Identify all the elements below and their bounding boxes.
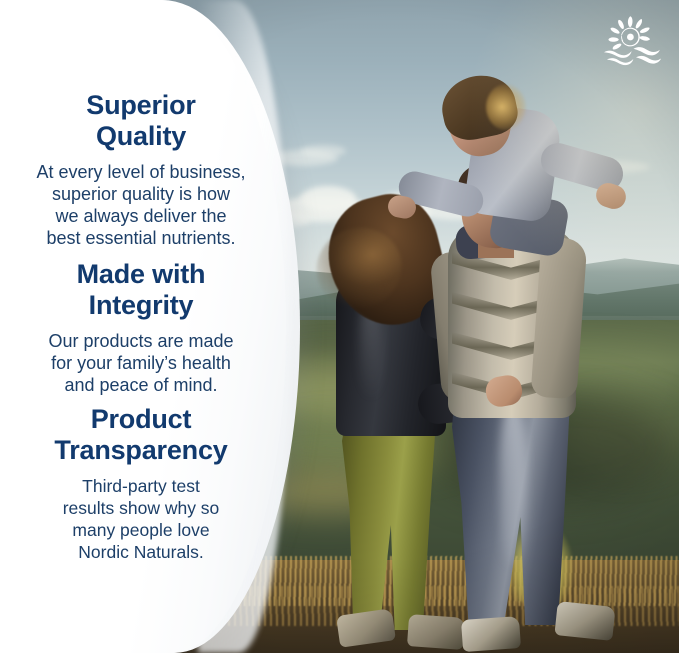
heading-line: Integrity: [89, 290, 194, 320]
body-line: superior quality is how: [52, 184, 230, 204]
cloud: [300, 145, 346, 157]
body-line: At every level of business,: [36, 162, 245, 182]
heading-line: Transparency: [54, 435, 227, 465]
body-line: we always deliver the: [55, 206, 226, 226]
heading-line: Quality: [96, 121, 186, 151]
hiking-boot: [407, 614, 465, 650]
heading-line: Superior: [86, 90, 195, 120]
heading-made-with-integrity: Made with Integrity: [0, 259, 282, 321]
value-propositions: Superior Quality At every level of busin…: [0, 0, 282, 653]
jeans-highlight: [500, 404, 526, 564]
value-block-superior-quality: Superior Quality At every level of busin…: [0, 90, 282, 249]
nordic-naturals-logo: [599, 14, 661, 66]
value-block-made-with-integrity: Made with Integrity Our products are mad…: [0, 259, 282, 396]
body-made-with-integrity: Our products are made for your family’s …: [0, 330, 282, 396]
heading-line: Made with: [77, 259, 206, 289]
heading-superior-quality: Superior Quality: [0, 90, 282, 152]
body-product-transparency: Third-party test results show why so man…: [0, 475, 282, 563]
body-line: best essential nutrients.: [46, 228, 235, 248]
hiking-boot: [554, 601, 615, 641]
value-block-product-transparency: Product Transparency Third-party test re…: [0, 404, 282, 563]
body-line: for your family’s health: [51, 353, 231, 373]
body-line: many people love: [72, 520, 209, 540]
hiking-boot: [461, 616, 521, 652]
body-line: results show why so: [63, 498, 220, 518]
body-line: Nordic Naturals.: [78, 542, 203, 562]
body-line: Our products are made: [48, 331, 233, 351]
body-superior-quality: At every level of business, superior qua…: [0, 161, 282, 249]
nordic-naturals-brand-banner: Superior Quality At every level of busin…: [0, 0, 679, 653]
body-line: Third-party test: [82, 476, 200, 496]
body-line: and peace of mind.: [64, 375, 217, 395]
heading-product-transparency: Product Transparency: [0, 404, 282, 466]
child-hair-sunlight: [486, 84, 526, 130]
heading-line: Product: [91, 404, 192, 434]
sun-wave-icon: [599, 14, 661, 66]
